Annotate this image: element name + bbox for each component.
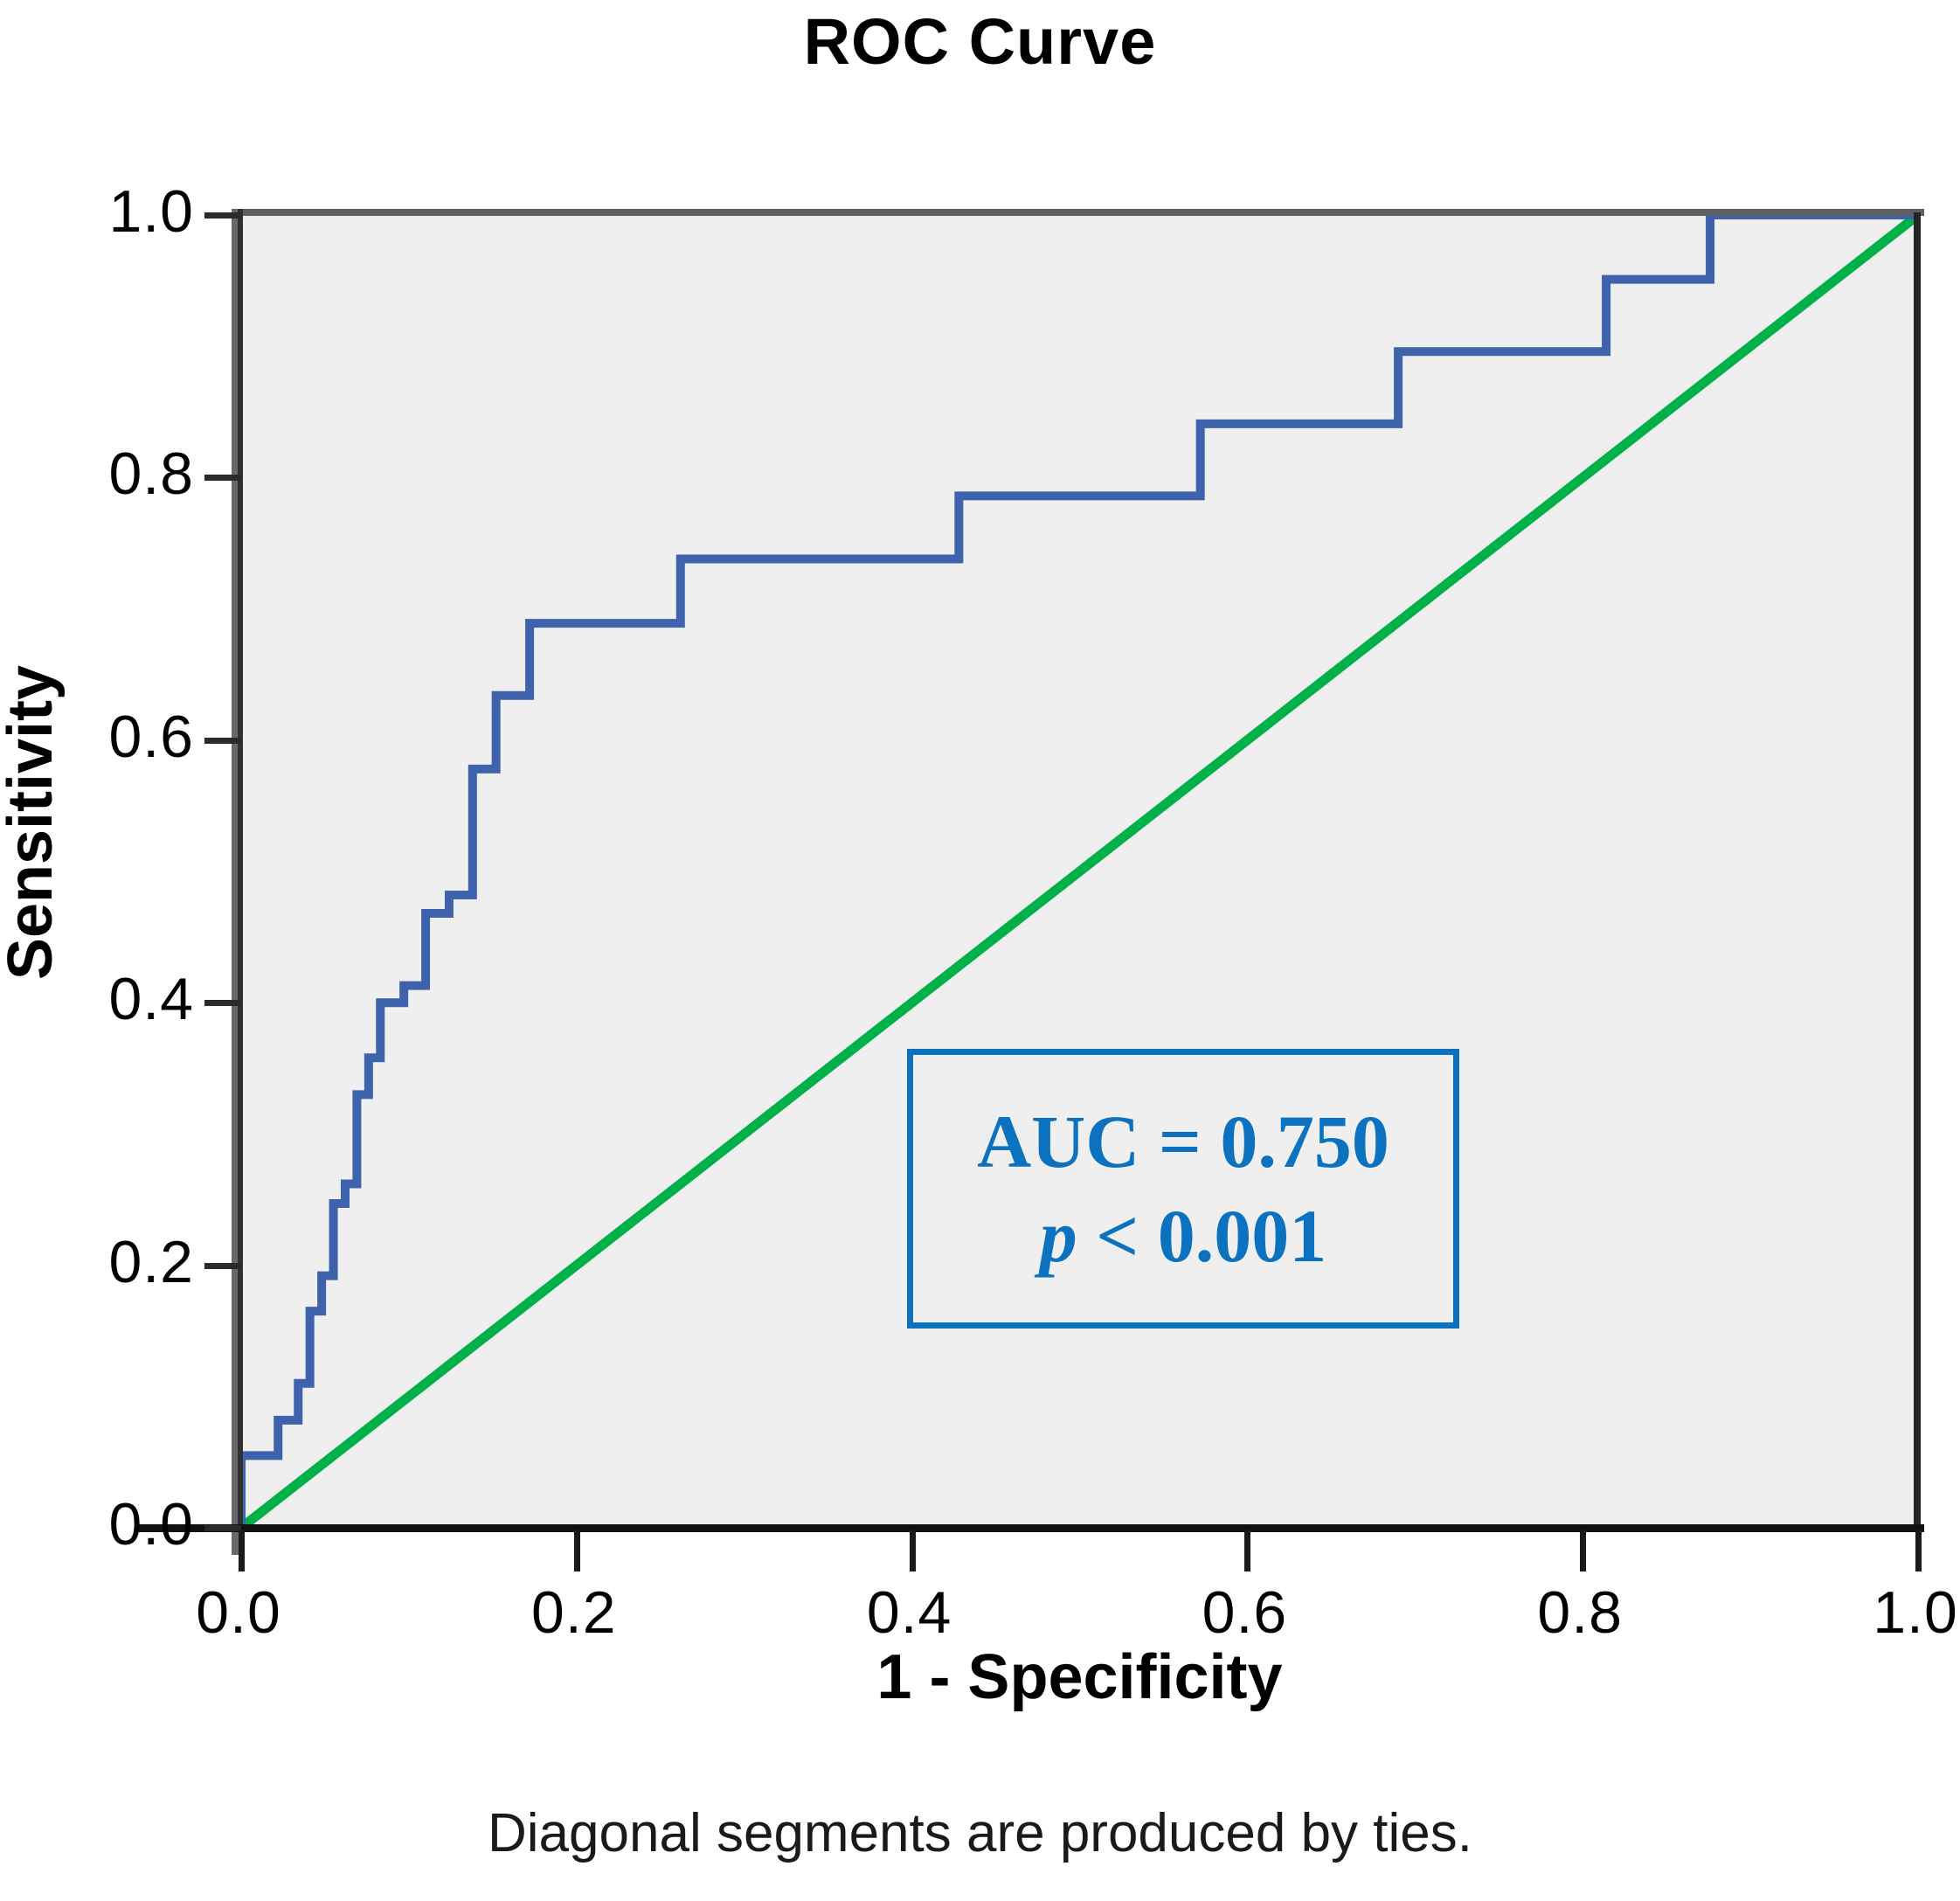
- y-tick-mark: [204, 1525, 241, 1531]
- x-tick-mark: [239, 1530, 245, 1571]
- roc-curve-figure: ROC Curve 0.00.20.40.60.81.0 0.00.20.40.…: [0, 0, 1960, 1901]
- x-tick-label: 0.8: [1537, 1578, 1623, 1647]
- y-tick-label: 1.0: [108, 177, 194, 246]
- y-tick: 0.8: [0, 475, 241, 481]
- y-tick-mark: [204, 1000, 241, 1006]
- y-tick-label: 0.8: [108, 440, 194, 508]
- x-tick-mark: [1915, 1530, 1922, 1571]
- x-tick-mark: [1244, 1530, 1250, 1571]
- x-tick-label: 0.0: [196, 1578, 281, 1647]
- plot-right-border: [1914, 212, 1921, 1528]
- pvalue-annotation-line: p < 0.001: [1040, 1198, 1327, 1273]
- x-tick-label: 0.6: [1202, 1578, 1288, 1647]
- y-tick-mark: [204, 738, 241, 744]
- y-tick-label: 0.0: [108, 1490, 194, 1558]
- plot-top-border: [234, 209, 1924, 216]
- x-axis-title: 1 - Specificity: [241, 1641, 1918, 1713]
- y-tick: 0.0: [0, 1525, 241, 1531]
- y-tick-mark: [204, 1263, 241, 1269]
- auc-annotation-box: AUC = 0.750 p < 0.001: [907, 1049, 1459, 1329]
- y-tick: 1.0: [0, 212, 241, 219]
- x-tick-mark: [910, 1530, 916, 1571]
- y-tick-mark: [204, 212, 241, 219]
- p-symbol: p: [1040, 1194, 1077, 1278]
- reference-diagonal-line: [241, 215, 1918, 1528]
- auc-annotation-line: AUC = 0.750: [977, 1104, 1389, 1179]
- y-axis-line-inner: [238, 209, 243, 1529]
- auc-label: AUC =: [977, 1100, 1202, 1183]
- p-value: 0.001: [1158, 1194, 1327, 1278]
- x-tick-label: 1.0: [1873, 1578, 1958, 1647]
- footnote-text: Diagonal segments are produced by ties.: [0, 1802, 1960, 1864]
- y-tick-label: 0.2: [108, 1228, 194, 1296]
- page-title: ROC Curve: [0, 4, 1960, 79]
- p-operator: <: [1096, 1194, 1139, 1278]
- x-tick-mark: [574, 1530, 580, 1571]
- plot-area: [241, 215, 1918, 1528]
- auc-value: 0.750: [1220, 1100, 1389, 1183]
- x-tick-label: 0.4: [867, 1578, 952, 1647]
- roc-curve-canvas: [241, 215, 1918, 1528]
- y-tick-label: 0.6: [108, 703, 194, 771]
- x-axis-line: [139, 1524, 1924, 1532]
- y-tick-mark: [204, 475, 241, 481]
- y-tick-label: 0.4: [108, 965, 194, 1033]
- y-axis-title: Sensitivity: [0, 560, 66, 1085]
- y-tick: 0.2: [0, 1263, 241, 1269]
- x-tick-label: 0.2: [531, 1578, 617, 1647]
- x-tick-mark: [1580, 1530, 1586, 1571]
